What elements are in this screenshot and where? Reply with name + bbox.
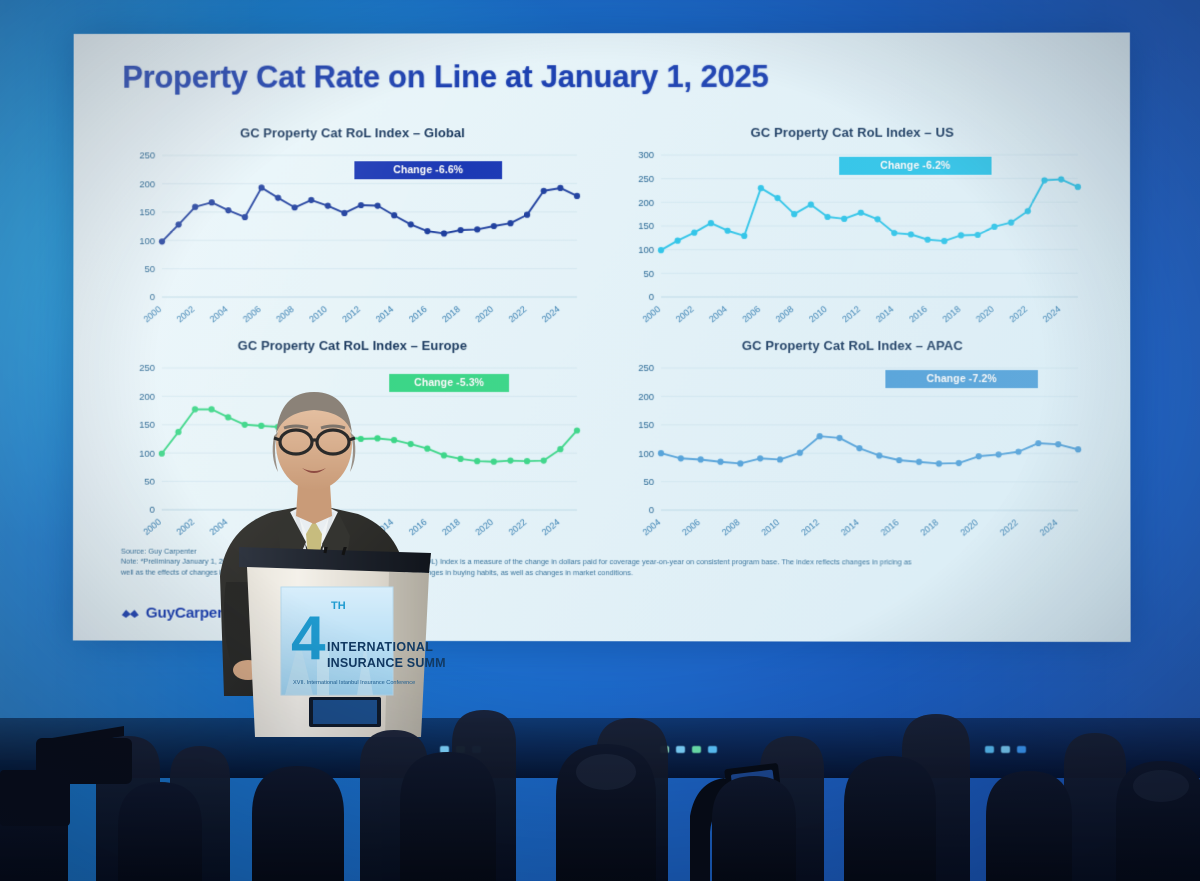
svg-apac-point (995, 451, 1001, 457)
svg-apac-point (678, 455, 684, 461)
svg-europe-xtick: 2018 (440, 517, 462, 538)
chart-us: GC Property Cat RoL Index – US 050100150… (617, 125, 1088, 355)
chart-us-change-badge: Change -6.2% (839, 157, 991, 175)
svg-apac-xtick: 2016 (879, 517, 901, 538)
svg-global-xtick: 2004 (208, 304, 230, 324)
svg-apac-point (876, 453, 882, 459)
svg-us-point (1075, 184, 1081, 190)
svg-us-xtick: 2022 (1007, 304, 1029, 325)
svg-global-point (524, 212, 530, 218)
podium-summit-ordinal: TH (331, 600, 346, 612)
svg-apac-point (956, 460, 962, 466)
svg-global-point (159, 238, 165, 244)
chart-global-title: GC Property Cat RoL Index – Global (118, 125, 587, 140)
svg-global-point (408, 221, 414, 227)
svg-us-ytick: 50 (643, 269, 654, 280)
svg-us-xtick: 2000 (641, 304, 663, 325)
svg-apac-ytick: 150 (638, 420, 654, 431)
svg-global-point (225, 207, 231, 213)
svg-apac-xtick: 2010 (760, 517, 782, 538)
svg-us-point (858, 210, 864, 216)
svg-global-series-line (162, 187, 577, 241)
svg-apac-point (698, 456, 704, 462)
svg-apac-point (737, 460, 743, 466)
svg-europe-ytick: 150 (139, 420, 155, 431)
podium-subtitle: XVII. International Istanbul Insurance C… (293, 680, 415, 686)
svg-apac-point (717, 459, 723, 465)
svg-global-point (391, 212, 397, 218)
svg-global-point (474, 226, 480, 232)
svg-europe-point (474, 458, 480, 464)
svg-europe-point (507, 457, 513, 463)
svg-global-ytick: 250 (139, 151, 155, 162)
svg-europe-point (541, 457, 547, 463)
chart-apac-title: GC Property Cat RoL Index – APAC (617, 338, 1088, 353)
svg-global-point (491, 223, 497, 229)
svg-global-point (341, 210, 347, 216)
chart-us-title: GC Property Cat RoL Index – US (617, 125, 1088, 140)
chart-global-plot: 0501001502002502000200220042006200820102… (118, 147, 587, 347)
svg-global-xtick: 2014 (374, 304, 396, 325)
chart-apac-change-badge: Change -7.2% (885, 370, 1038, 388)
svg-europe-point (524, 458, 530, 464)
svg-global-xtick: 2012 (341, 304, 363, 325)
svg-apac-point (777, 456, 783, 462)
svg-apac-point (1075, 446, 1081, 452)
svg-apac-point (658, 450, 664, 456)
svg-apac-point (916, 459, 922, 465)
svg-global-point (375, 203, 381, 209)
svg-us-point (958, 232, 964, 238)
svg-us-point (1058, 176, 1064, 182)
svg-apac-point (1055, 441, 1061, 447)
svg-europe-ytick: 100 (139, 448, 155, 459)
svg-global-point (507, 220, 513, 226)
svg-us-ytick: 250 (638, 174, 654, 185)
svg-us-series-line (661, 179, 1078, 250)
svg-us-point (824, 214, 830, 220)
podium-line2: INSURANCE SUMMIT (327, 656, 445, 670)
svg-apac-xtick: 2008 (720, 517, 742, 538)
svg-apac-xtick: 2020 (958, 517, 980, 538)
svg-global-point (209, 199, 215, 205)
svg-us-xtick: 2016 (907, 304, 929, 325)
svg-us-point (724, 228, 730, 234)
svg-us-point (774, 195, 780, 201)
svg-europe-ytick: 50 (144, 477, 155, 488)
svg-us-point (691, 230, 697, 236)
svg-us-xtick: 2024 (1041, 304, 1063, 325)
svg-global-point (458, 227, 464, 233)
svg-global-point (358, 202, 364, 208)
podium-line1: INTERNATIONAL (327, 640, 433, 654)
svg-apac-xtick: 2022 (998, 517, 1020, 538)
svg-apac-xtick: 2024 (1038, 517, 1060, 538)
svg-us-xtick: 2014 (874, 304, 896, 325)
svg-apac-point (817, 433, 823, 439)
svg-us-point (1025, 208, 1031, 214)
svg-global-point (292, 204, 298, 210)
svg-us-point (1008, 219, 1014, 225)
marsh-mclennan-chevron-icon (121, 608, 140, 620)
svg-apac-point (856, 445, 862, 451)
svg-us-ytick: 0 (649, 292, 654, 303)
svg-us-point (874, 216, 880, 222)
svg-apac-ytick: 200 (638, 392, 654, 403)
stage-led (456, 746, 465, 753)
svg-global-point (574, 193, 580, 199)
svg-apac-xtick: 2006 (680, 517, 702, 538)
svg-global-xtick: 2008 (274, 304, 296, 324)
chart-us-plot: 0501001502002503002000200220042006200820… (617, 147, 1088, 347)
svg-europe-point (159, 450, 165, 456)
svg-us-point (758, 185, 764, 191)
svg-us-ytick: 150 (638, 221, 654, 232)
podium-summit-number: 4 (291, 604, 326, 673)
svg-europe-point (557, 446, 563, 452)
svg-apac-ytick: 0 (649, 505, 654, 516)
svg-global-ytick: 150 (139, 207, 155, 218)
svg-apac-point (936, 461, 942, 467)
svg-global-point (308, 197, 314, 203)
svg-us-point (1041, 177, 1047, 183)
stage-led (985, 746, 994, 753)
svg-global-xtick: 2024 (540, 304, 562, 325)
svg-global-point (441, 230, 447, 236)
svg-global-point (275, 195, 281, 201)
svg-global-xtick: 2006 (241, 304, 263, 324)
stage-led (440, 746, 449, 753)
svg-apac-point (1015, 449, 1021, 455)
svg-us-point (908, 231, 914, 237)
svg-us-point (658, 247, 664, 253)
svg-global-xtick: 2020 (473, 304, 495, 325)
svg-global-xtick: 2022 (507, 304, 529, 325)
svg-us-xtick: 2008 (774, 304, 796, 325)
svg-apac-xtick: 2018 (918, 517, 940, 538)
svg-global-ytick: 50 (144, 264, 155, 275)
svg-apac-point (1035, 440, 1041, 446)
podium: 4 TH INTERNATIONAL INSURANCE SUMMIT XVII… (239, 547, 445, 737)
svg-us-xtick: 2004 (707, 304, 729, 325)
svg-us-point (975, 232, 981, 238)
svg-us-point (925, 237, 931, 243)
svg-apac-xtick: 2014 (839, 517, 861, 538)
svg-global-xtick: 2002 (175, 304, 197, 324)
svg-global-xtick: 2018 (440, 304, 462, 325)
svg-us-point (991, 224, 997, 230)
svg-apac-xtick: 2012 (799, 517, 821, 538)
svg-global-ytick: 200 (139, 179, 155, 190)
svg-apac-ytick: 100 (638, 449, 654, 460)
svg-europe-ytick: 0 (149, 505, 154, 516)
stage-led (692, 746, 701, 753)
svg-us-xtick: 2020 (974, 304, 996, 325)
svg-us-point (675, 238, 681, 244)
svg-us-point (741, 233, 747, 239)
stage-led (472, 746, 481, 753)
chart-europe-title: GC Property Cat RoL Index – Europe (118, 338, 587, 353)
svg-global-point (175, 221, 181, 227)
svg-europe-point (574, 427, 580, 433)
svg-global-xtick: 2000 (142, 304, 164, 324)
svg-europe-point (491, 459, 497, 465)
svg-us-point (941, 238, 947, 244)
chart-global-change-badge: Change -6.6% (354, 161, 502, 179)
svg-europe-xtick: 2024 (540, 517, 562, 538)
svg-us-point (808, 202, 814, 208)
svg-apac-point (757, 455, 763, 461)
svg-europe-point (457, 456, 463, 462)
svg-global-point (557, 185, 563, 191)
slide-title: Property Cat Rate on Line at January 1, … (122, 59, 768, 96)
stage-led (708, 746, 717, 753)
svg-us-xtick: 2010 (807, 304, 829, 325)
svg-us-point (891, 230, 897, 236)
stage-led (1001, 746, 1010, 753)
svg-global-point (192, 204, 198, 210)
svg-global-point (325, 203, 331, 209)
svg-us-xtick: 2006 (740, 304, 762, 325)
svg-us-point (791, 211, 797, 217)
svg-us-ytick: 200 (638, 198, 654, 209)
chart-apac-plot: 0501001502002502004200620082010201220142… (617, 360, 1088, 561)
svg-us-point (841, 216, 847, 222)
svg-apac-ytick: 50 (643, 477, 654, 488)
svg-global-point (424, 228, 430, 234)
svg-us-xtick: 2012 (840, 304, 862, 325)
svg-europe-xtick: 2000 (141, 517, 163, 537)
svg-apac-point (836, 435, 842, 441)
svg-apac-point (797, 450, 803, 456)
stage-led (1017, 746, 1026, 753)
svg-apac-point (976, 453, 982, 459)
svg-global-xtick: 2010 (307, 304, 329, 324)
svg-global-point (242, 214, 248, 220)
svg-us-ytick: 100 (638, 245, 654, 256)
svg-global-xtick: 2016 (407, 304, 429, 325)
svg-europe-xtick: 2020 (473, 517, 495, 538)
svg-europe-ytick: 250 (139, 363, 155, 374)
svg-global-ytick: 0 (150, 292, 155, 303)
svg-us-point (708, 220, 714, 226)
svg-apac-series-line (661, 436, 1078, 464)
svg-global-point (541, 188, 547, 194)
svg-global-point (258, 185, 264, 191)
svg-europe-point (175, 429, 181, 435)
svg-europe-xtick: 2022 (507, 517, 529, 538)
svg-us-ytick: 300 (638, 150, 654, 161)
stage-led (676, 746, 685, 753)
svg-europe-ytick: 200 (139, 392, 155, 403)
svg-apac-ytick: 250 (638, 363, 654, 374)
chart-apac: GC Property Cat RoL Index – APAC 0501001… (617, 338, 1088, 569)
svg-global-ytick: 100 (139, 236, 155, 247)
svg-us-xtick: 2002 (674, 304, 696, 325)
chart-global: GC Property Cat RoL Index – Global 05010… (118, 125, 587, 355)
svg-apac-point (896, 457, 902, 463)
svg-us-xtick: 2018 (941, 304, 963, 325)
svg-apac-xtick: 2004 (641, 517, 663, 538)
stage-led (660, 746, 669, 753)
